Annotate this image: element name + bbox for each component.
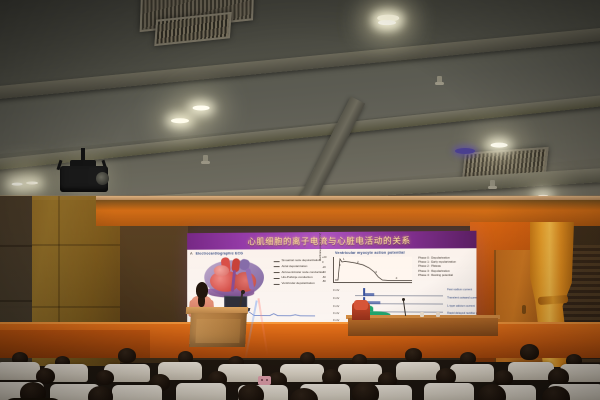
atrium [214,265,229,276]
y-tick-label: -40 [322,271,326,274]
y-tick-label: 0 [322,261,323,264]
panel-marker: A [190,251,193,256]
audience-head [494,370,513,386]
phase-label: 4 [396,276,398,280]
ceiling-indicator-light [455,148,475,154]
fire-sprinkler [490,180,495,187]
audience-chair[interactable] [0,362,40,380]
audience-head [322,369,341,385]
red-chair-back [354,300,368,310]
audience-area [0,338,600,400]
y-tick-label: +20 [322,256,326,259]
y-tick-label: -20 [322,266,326,269]
trace-name: Transient outward current [447,296,476,300]
trace-axis-label: 0 mV [333,312,339,315]
phase-label: 1 [343,257,345,261]
phase-label: 3 [375,270,377,274]
audience-chair[interactable] [424,383,474,400]
recessed-downlight [165,113,195,129]
phase-legend-item: Phase 4 : Resting potential [418,273,472,277]
audience-head [96,370,114,385]
trace-axis-label: 0 mV [333,297,339,300]
audience-head [520,344,539,360]
audience-head [405,348,422,362]
slide-title-bar: 心肌细胞的离子电流与心脏电活动的关系 [187,231,476,250]
action-potential-chart: +20 0 -20 -40 -60 -80 0 1 2 3 4 Membrane… [333,257,412,283]
y-tick-label: -80 [322,280,326,283]
trace-axis-label: 0 mV [333,305,339,308]
door-handle-icon[interactable] [522,305,526,314]
legend-item: Sinoatrial node depolarization [282,259,331,263]
presenter-hair [196,282,208,298]
y-axis-label: Membrane potential (mV) [319,252,322,261]
fire-sprinkler [203,155,208,162]
recessed-downlight [8,180,26,188]
phase-label: 2 [357,260,359,264]
drinking-cup [420,312,424,317]
head-table [348,318,498,336]
microphone-head-icon [241,290,245,294]
fire-sprinkler [437,76,442,83]
lecture-hall-photo: 心肌细胞的离子电流与心脏电活动的关系 A Electrocardiographi… [0,0,600,400]
trace-axis-label: 0 mV [333,289,339,292]
projector-lens-icon [96,172,109,185]
audience-head [88,386,113,400]
recessed-downlight [372,14,402,31]
heart-cross-section-diagram [200,257,267,299]
audience-chair[interactable] [338,364,382,382]
action-potential-section-label: Ventricular myocyte action potential [335,251,405,255]
microphone-head-icon [402,298,405,301]
audience-chair[interactable] [450,364,494,382]
audience-head [238,384,264,400]
audience-chair[interactable] [176,383,226,400]
ecg-section-label: Electrocardiographic ECG [196,251,243,255]
phase-label: 0 [339,263,341,267]
pink-bag [258,376,271,385]
audience-chair[interactable] [112,385,162,400]
recessed-downlight [187,100,215,115]
drinking-cup [436,312,440,317]
audience-head [352,382,379,400]
audience-chair[interactable] [396,362,440,380]
ceiling [0,0,600,215]
panel-seam [0,245,32,247]
panel-seam [0,300,32,302]
trace-name: Fast sodium current [447,288,476,292]
slide-title: 心肌细胞的离子电流与心脏电活动的关系 [248,234,411,247]
audience-head [118,348,136,363]
trace-name: L-type calcium current [447,305,476,309]
phase-legend: Phase 0 : Depolarization Phase 1 : Early… [418,255,472,277]
recessed-downlight [485,138,513,152]
y-tick-label: -60 [322,276,326,279]
